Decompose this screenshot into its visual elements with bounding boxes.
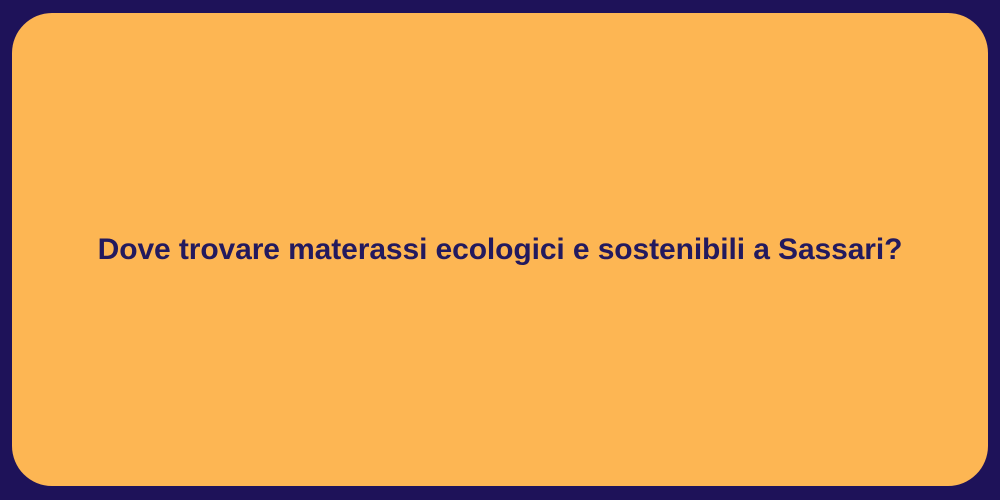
page-title: Dove trovare materassi ecologici e soste… — [74, 231, 927, 269]
outer-frame: Dove trovare materassi ecologici e soste… — [0, 0, 1000, 500]
banner-root: Dove trovare materassi ecologici e soste… — [0, 0, 1000, 500]
content-panel: Dove trovare materassi ecologici e soste… — [12, 13, 988, 486]
